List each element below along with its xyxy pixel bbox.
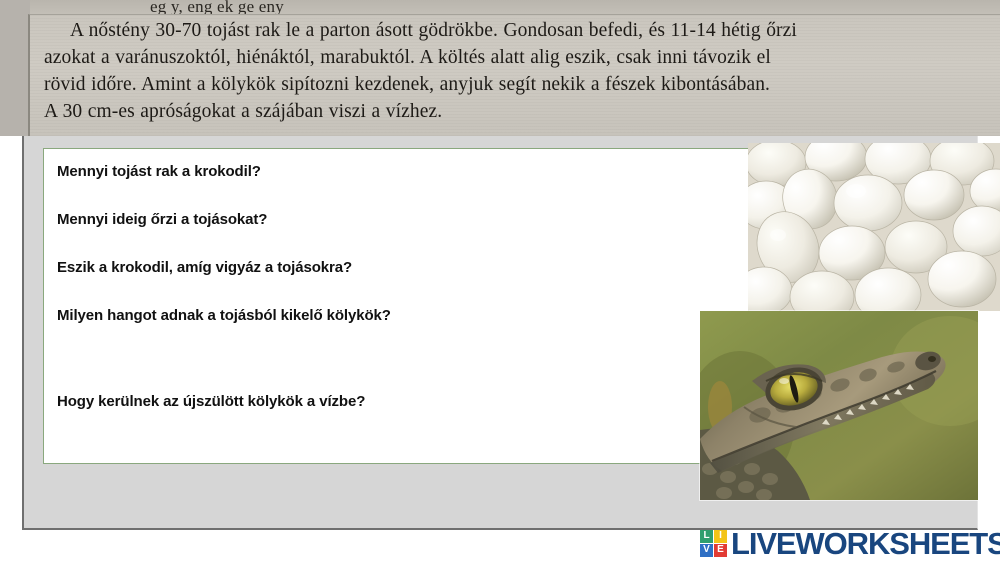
question-1: Mennyi tojást rak a krokodil? xyxy=(57,163,748,181)
question-5: Hogy kerülnek az újszülött kölykök a víz… xyxy=(57,393,748,411)
liveworksheets-logo[interactable]: L I V E LIVEWORKSHEETS xyxy=(700,525,1000,561)
question-box: Mennyi tojást rak a krokodil? Mennyi ide… xyxy=(43,148,749,464)
scan-clipped-line: eg y, eng ek ge eny xyxy=(30,0,1000,14)
eggs-illustration xyxy=(748,143,1000,311)
scan-line-1-text: A nőstény 30-70 tojást rak le a parton á… xyxy=(70,20,797,41)
logo-cell-e: E xyxy=(714,544,727,557)
crocodile-illustration xyxy=(700,311,978,500)
scan-paragraph: A nőstény 30-70 tojást rak le a parton á… xyxy=(44,17,990,125)
question-3: Eszik a krokodil, amíg vigyáz a tojásokr… xyxy=(57,259,748,277)
eggs-image xyxy=(748,143,1000,311)
scan-line-2: azokat a varánuszoktól, hiénáktól, marab… xyxy=(44,44,990,71)
crocodile-image xyxy=(700,311,978,500)
liveworksheets-mark-icon: L I V E xyxy=(700,530,727,557)
question-2: Mennyi ideig őrzi a tojásokat? xyxy=(57,211,748,229)
question-4: Milyen hangot adnak a tojásból kikelő kö… xyxy=(57,307,748,325)
scan-line-4: A 30 cm-es apróságokat a szájában viszi … xyxy=(44,98,990,125)
logo-cell-l: L xyxy=(700,530,713,543)
scan-line-3: rövid időre. Amint a kölykök sipítozni k… xyxy=(44,71,990,98)
logo-cell-i: I xyxy=(714,530,727,543)
scanned-textbook-strip: eg y, eng ek ge eny A nőstény 30-70 tojá… xyxy=(0,0,1000,136)
scan-line-1: A nőstény 30-70 tojást rak le a parton á… xyxy=(44,17,990,44)
worksheet-screenshot: eg y, eng ek ge eny A nőstény 30-70 tojá… xyxy=(0,0,1000,562)
scan-paper: A nőstény 30-70 tojást rak le a parton á… xyxy=(28,14,1000,136)
liveworksheets-wordmark: LIVEWORKSHEETS xyxy=(731,528,1000,559)
question-list: Mennyi tojást rak a krokodil? Mennyi ide… xyxy=(44,149,748,411)
logo-cell-v: V xyxy=(700,544,713,557)
